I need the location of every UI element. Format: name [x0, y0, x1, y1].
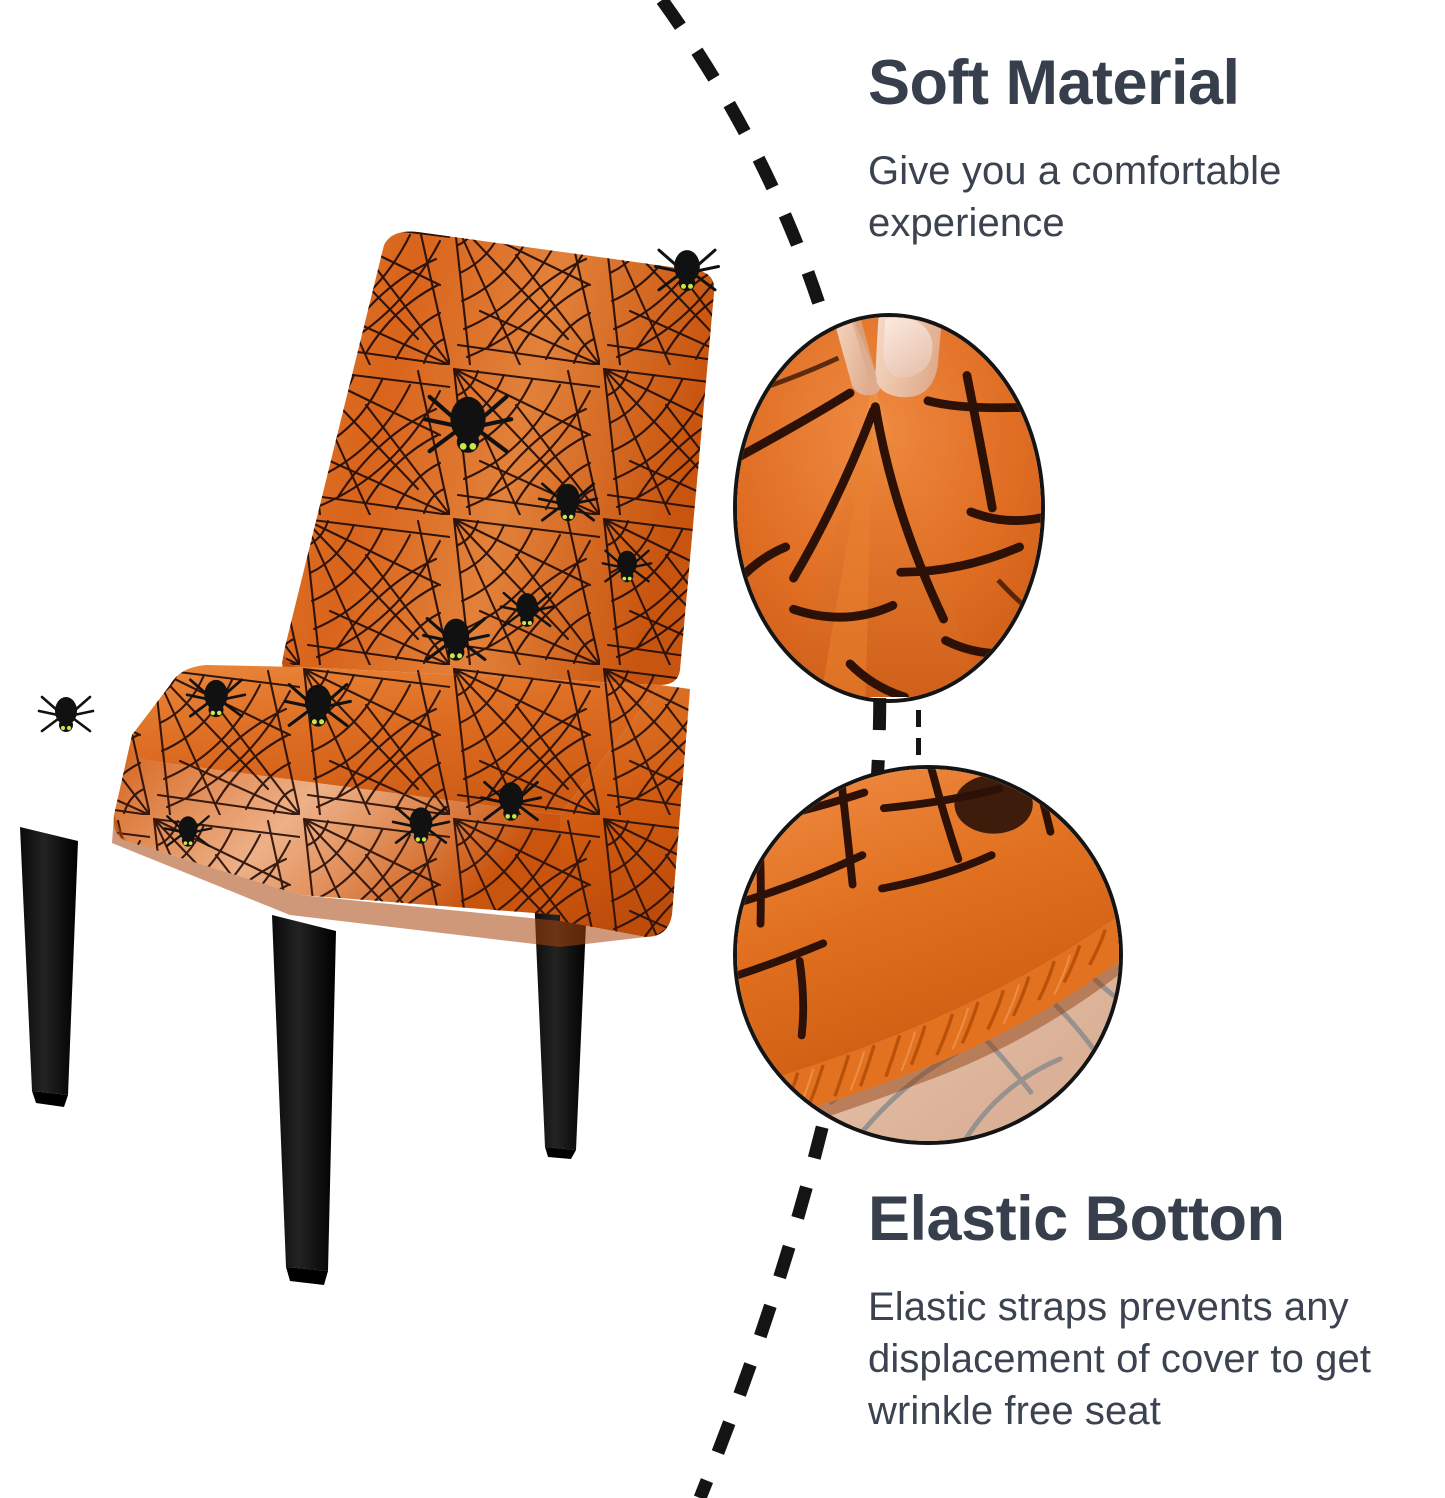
- chair-back: [282, 232, 714, 685]
- elastic-hem-photo: [737, 769, 1119, 1141]
- product-chair-image: [0, 215, 720, 1325]
- pinch-stretch-photo: [737, 317, 1041, 697]
- chair-leg-front-center: [272, 915, 336, 1285]
- callout-pinch-stretch-fabric: [733, 313, 1045, 703]
- callout-elastic-hem: [733, 765, 1123, 1145]
- connector-dash: [916, 738, 921, 755]
- dashed-connector-line: [916, 710, 921, 762]
- connector-dash: [916, 710, 921, 727]
- soft-material-subtext: Give you a comfortable experience: [868, 145, 1428, 249]
- elastic-bottom-headline: Elastic Botton: [868, 1186, 1434, 1253]
- soft-material-headline: Soft Material: [868, 50, 1428, 117]
- feature-block-soft-material: Soft Material Give you a comfortable exp…: [868, 50, 1428, 249]
- infographic-canvas: Soft Material Give you a comfortable exp…: [0, 0, 1445, 1498]
- chair-leg-front-left: [20, 827, 78, 1107]
- elastic-bottom-subtext: Elastic straps prevents any displacement…: [868, 1281, 1434, 1437]
- feature-block-elastic-bottom: Elastic Botton Elastic straps prevents a…: [868, 1186, 1434, 1437]
